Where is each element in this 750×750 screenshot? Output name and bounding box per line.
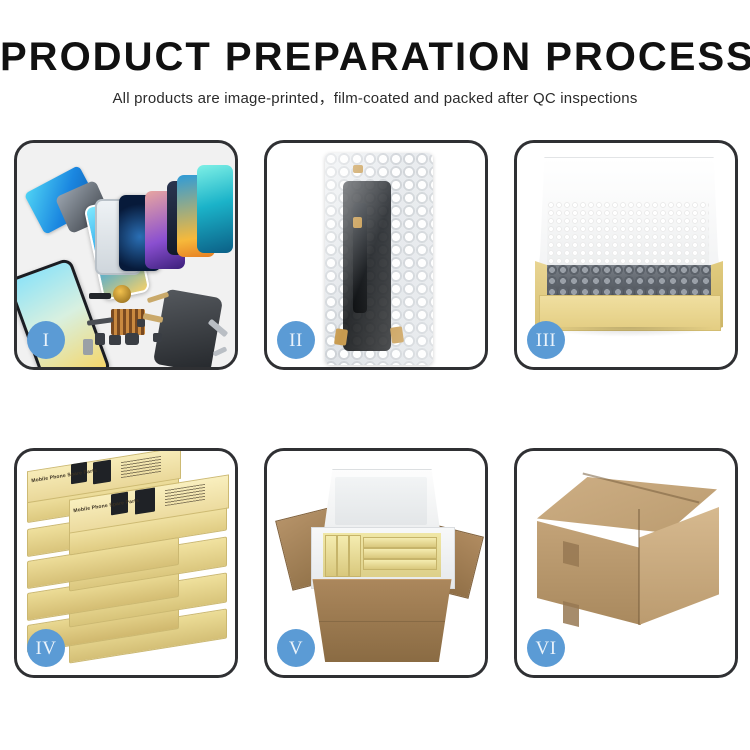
step-card-iv[interactable]: Mobile Phone Spare Parts Mobile Phone Sp… [14, 448, 238, 678]
process-row-bottom: Mobile Phone Spare Parts Mobile Phone Sp… [14, 448, 740, 678]
step-badge-ii: II [277, 321, 315, 359]
step-badge-v: V [277, 629, 315, 667]
small-part-icon [95, 333, 105, 345]
step-card-ii[interactable]: II [264, 140, 488, 370]
box-front-panel-icon [539, 295, 721, 331]
product-preparation-process-page: PRODUCT PREPARATION PROCESS All products… [0, 0, 750, 750]
packing-tape-icon [563, 601, 579, 627]
page-subtitle: All products are image-printed，film-coat… [0, 90, 750, 108]
foam-sheet-icon [547, 201, 709, 267]
step-badge-i: I [27, 321, 65, 359]
step-card-i[interactable]: I [14, 140, 238, 370]
carton-left-face [537, 521, 641, 625]
step-card-iii[interactable]: III [514, 140, 738, 370]
carton-vertical-edge [638, 509, 640, 625]
flex-cable-icon [143, 313, 164, 323]
cyan-phone-icon [197, 165, 233, 253]
sim-tray-icon [83, 339, 93, 355]
screw-icon [153, 333, 162, 342]
small-part-icon [125, 333, 139, 345]
packed-box-icon [363, 537, 437, 548]
process-row-top: I II [14, 140, 740, 370]
screwdriver-icon [213, 346, 228, 356]
step-badge-iii: III [527, 321, 565, 359]
packed-box-icon [349, 535, 361, 577]
header: PRODUCT PREPARATION PROCESS All products… [0, 34, 750, 108]
plastic-sheen-overlay [325, 153, 433, 365]
box-shadow [543, 327, 715, 337]
packed-box-icon [363, 548, 437, 559]
step-badge-iv: IV [27, 629, 65, 667]
process-steps-grid: I II [14, 140, 740, 678]
wrapped-items-row-icon [547, 265, 711, 297]
small-part-icon [109, 335, 121, 345]
packed-box-icon [337, 535, 349, 577]
step-card-v[interactable]: V [264, 448, 488, 678]
box-stack: Mobile Phone Spare Parts Mobile Phone Sp… [25, 465, 231, 657]
packed-box-icon [325, 535, 337, 577]
step-card-vi[interactable]: VI [514, 448, 738, 678]
packed-box-icon [363, 559, 437, 570]
step-badge-vi: VI [527, 629, 565, 667]
packing-tape-icon [563, 541, 579, 567]
foam-lid-inner-face [335, 477, 427, 525]
screw-icon [137, 319, 145, 327]
page-title: PRODUCT PREPARATION PROCESS [0, 34, 750, 80]
carton-body-crease [319, 621, 445, 622]
component-icon [89, 293, 111, 299]
speaker-coil-icon [113, 285, 131, 303]
